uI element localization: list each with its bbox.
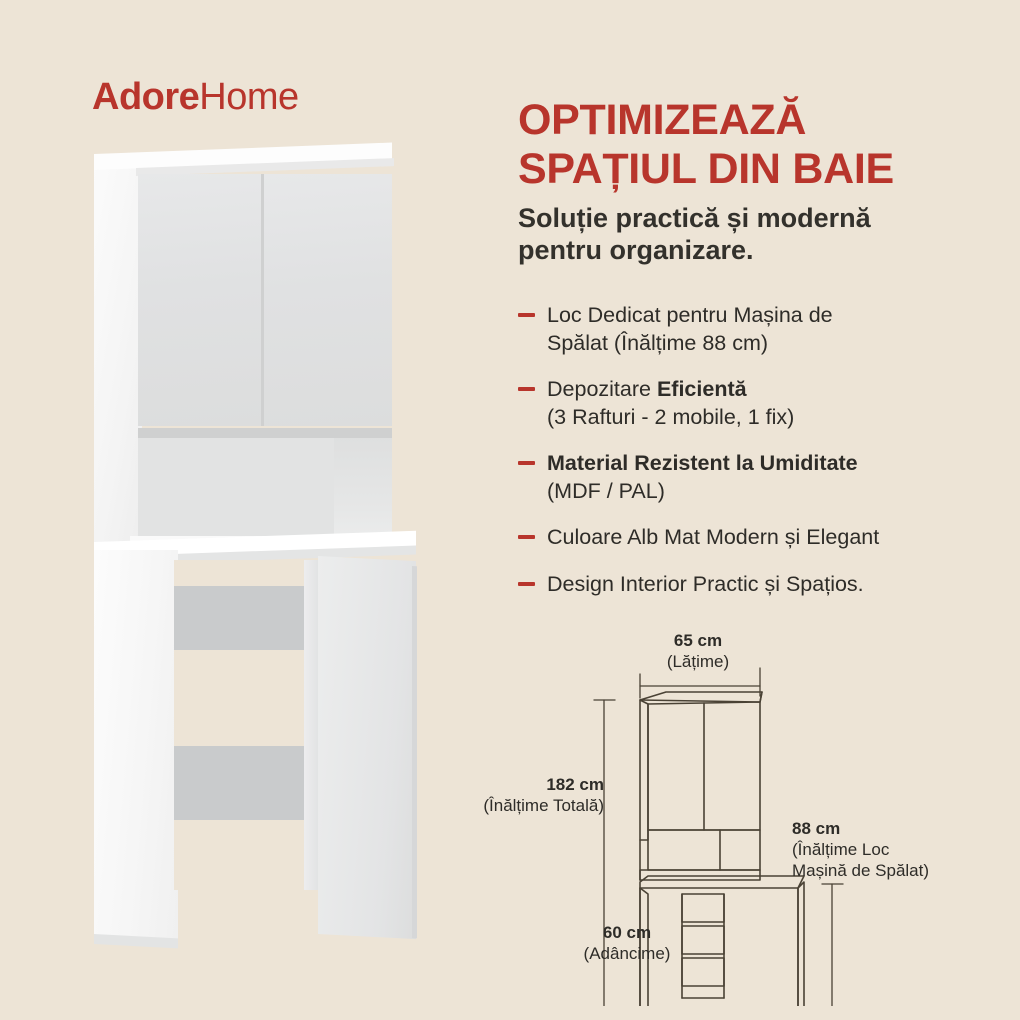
- dimension-value-depth: 60 cm: [562, 922, 692, 943]
- subhead-line-1: Soluție practică și modernă: [518, 203, 871, 233]
- dimension-caption-washing-machine-1: (Înălțime Loc: [792, 839, 992, 860]
- bay-back-panel-upper: [174, 586, 304, 650]
- cabinet-door-left: [138, 174, 262, 426]
- bay-back-panel-lower: [174, 746, 304, 820]
- page-subtitle: Soluție practică și modernă pentru organ…: [518, 202, 958, 267]
- dash-bullet-icon: [518, 582, 535, 586]
- lower-right-side-panel: [318, 556, 416, 939]
- feature-text-line-2: (MDF / PAL): [547, 479, 665, 503]
- page-title: OPTIMIZEAZĂ SPAȚIUL DIN BAIE: [518, 96, 988, 194]
- dash-bullet-icon: [518, 461, 535, 465]
- list-item: Depozitare Eficientă (3 Rafturi - 2 mobi…: [518, 376, 998, 431]
- list-item: Culoare Alb Mat Modern și Elegant: [518, 524, 998, 552]
- dimension-label-depth: 60 cm (Adâncime): [562, 922, 692, 964]
- subhead-line-2: pentru organizare.: [518, 235, 754, 265]
- feature-text-line-1: Design Interior Practic și Spațios.: [547, 572, 864, 596]
- lower-vertical-divider: [304, 560, 318, 890]
- brand-logo: AdoreHome: [92, 78, 299, 116]
- product-image: [58, 146, 478, 956]
- dash-bullet-icon: [518, 387, 535, 391]
- headline-line-1: OPTIMIZEAZĂ: [518, 96, 806, 144]
- cabinet-door-right: [264, 174, 392, 426]
- dimension-label-width: 65 cm (Lățime): [638, 630, 758, 672]
- feature-list: Loc Dedicat pentru Mașina de Spălat (Înă…: [518, 302, 998, 617]
- feature-text-line-1: Loc Dedicat pentru Mașina de: [547, 303, 833, 327]
- dimension-diagram: 65 cm (Lățime) 182 cm (Înălțime Totală) …: [452, 626, 1012, 1006]
- cabinet-left-side-panel: [94, 160, 142, 572]
- feature-text-line-2: Spălat (Înălțime 88 cm): [547, 331, 768, 355]
- dimension-label-height: 182 cm (Înălțime Totală): [452, 774, 604, 816]
- dimension-caption-width: (Lățime): [638, 651, 758, 672]
- lower-left-side-panel: [94, 550, 178, 942]
- feature-text-line-1: Depozitare: [547, 377, 657, 401]
- dash-bullet-icon: [518, 313, 535, 317]
- list-item: Design Interior Practic și Spațios.: [518, 571, 998, 599]
- cabinet-door-gap: [261, 174, 264, 426]
- dimension-caption-depth: (Adâncime): [562, 943, 692, 964]
- dimension-caption-height: (Înălțime Totală): [452, 795, 604, 816]
- feature-text-emphasis: Material Rezistent la Umiditate: [547, 451, 858, 475]
- list-item: Loc Dedicat pentru Mașina de Spălat (Înă…: [518, 302, 998, 357]
- dimension-value-width: 65 cm: [638, 630, 758, 651]
- open-shelf-top-shadow: [138, 428, 392, 438]
- brand-logo-bold: Adore: [92, 76, 199, 118]
- dimension-value-height: 182 cm: [452, 774, 604, 795]
- dimension-label-washing-machine: 88 cm (Înălțime Loc Mașină de Spălat): [792, 818, 992, 881]
- promo-page: AdoreHome OPTIMIZEAZĂ SPAȚIUL DIN BAIE S…: [0, 0, 1020, 1020]
- headline-line-2: SPAȚIUL DIN BAIE: [518, 145, 894, 193]
- dimension-value-washing-machine: 88 cm: [792, 818, 992, 839]
- dash-bullet-icon: [518, 535, 535, 539]
- dimension-caption-washing-machine-2: Mașină de Spălat): [792, 860, 992, 881]
- open-shelf-back-panel: [138, 428, 334, 536]
- feature-text-emphasis: Eficientă: [657, 377, 747, 401]
- feature-text-line-2: (3 Rafturi - 2 mobile, 1 fix): [547, 405, 794, 429]
- list-item: Material Rezistent la Umiditate (MDF / P…: [518, 450, 998, 505]
- brand-logo-light: Home: [199, 76, 298, 118]
- feature-text-line-1: Culoare Alb Mat Modern și Elegant: [547, 525, 879, 549]
- lower-right-panel-edge: [412, 566, 417, 938]
